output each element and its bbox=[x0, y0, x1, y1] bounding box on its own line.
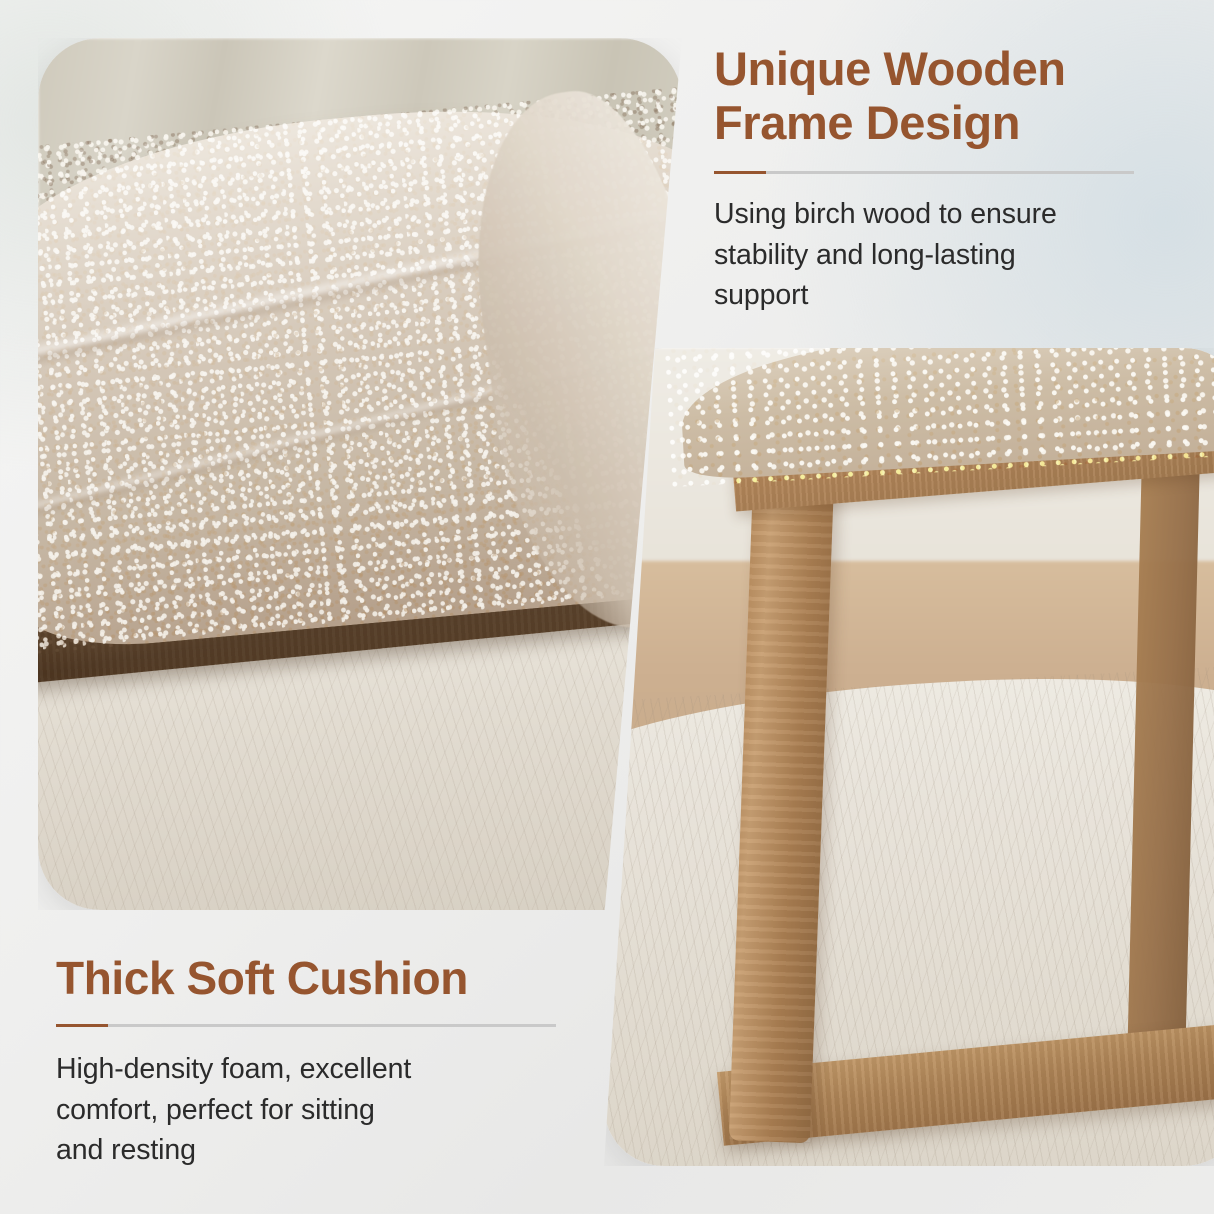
feature-divider-thick-cushion bbox=[56, 1024, 556, 1027]
cushion-photo-layers bbox=[38, 38, 682, 910]
feature-body-thick-cushion: High-density foam, excellent comfort, pe… bbox=[56, 1049, 556, 1170]
body-line: stability and long-lasting bbox=[714, 235, 1134, 275]
body-line: support bbox=[714, 275, 1134, 315]
feature-block-wooden-frame: Unique Wooden Frame Design Using birch w… bbox=[714, 42, 1134, 316]
photo-frame-closeup bbox=[604, 348, 1214, 1166]
headline-line: Unique Wooden bbox=[714, 42, 1134, 96]
feature-headline-wooden-frame: Unique Wooden Frame Design bbox=[714, 42, 1134, 149]
feature-divider-wooden-frame bbox=[714, 171, 1134, 174]
body-line: comfort, perfect for sitting bbox=[56, 1090, 556, 1130]
photo-card-cushion-closeup bbox=[38, 38, 682, 910]
frame-photo-layers bbox=[604, 348, 1214, 1166]
infographic-canvas: Unique Wooden Frame Design Using birch w… bbox=[0, 0, 1214, 1214]
photo-cushion-closeup bbox=[38, 38, 682, 910]
body-line: Using birch wood to ensure bbox=[714, 194, 1134, 234]
headline-line: Thick Soft Cushion bbox=[56, 952, 556, 1004]
feature-headline-thick-cushion: Thick Soft Cushion bbox=[56, 952, 556, 1004]
photo-card-frame-closeup bbox=[604, 348, 1214, 1166]
headline-line: Frame Design bbox=[714, 96, 1134, 150]
feature-body-wooden-frame: Using birch wood to ensure stability and… bbox=[714, 194, 1134, 315]
feature-block-thick-cushion: Thick Soft Cushion High-density foam, ex… bbox=[56, 952, 556, 1171]
body-line: and resting bbox=[56, 1130, 556, 1170]
body-line: High-density foam, excellent bbox=[56, 1049, 556, 1089]
